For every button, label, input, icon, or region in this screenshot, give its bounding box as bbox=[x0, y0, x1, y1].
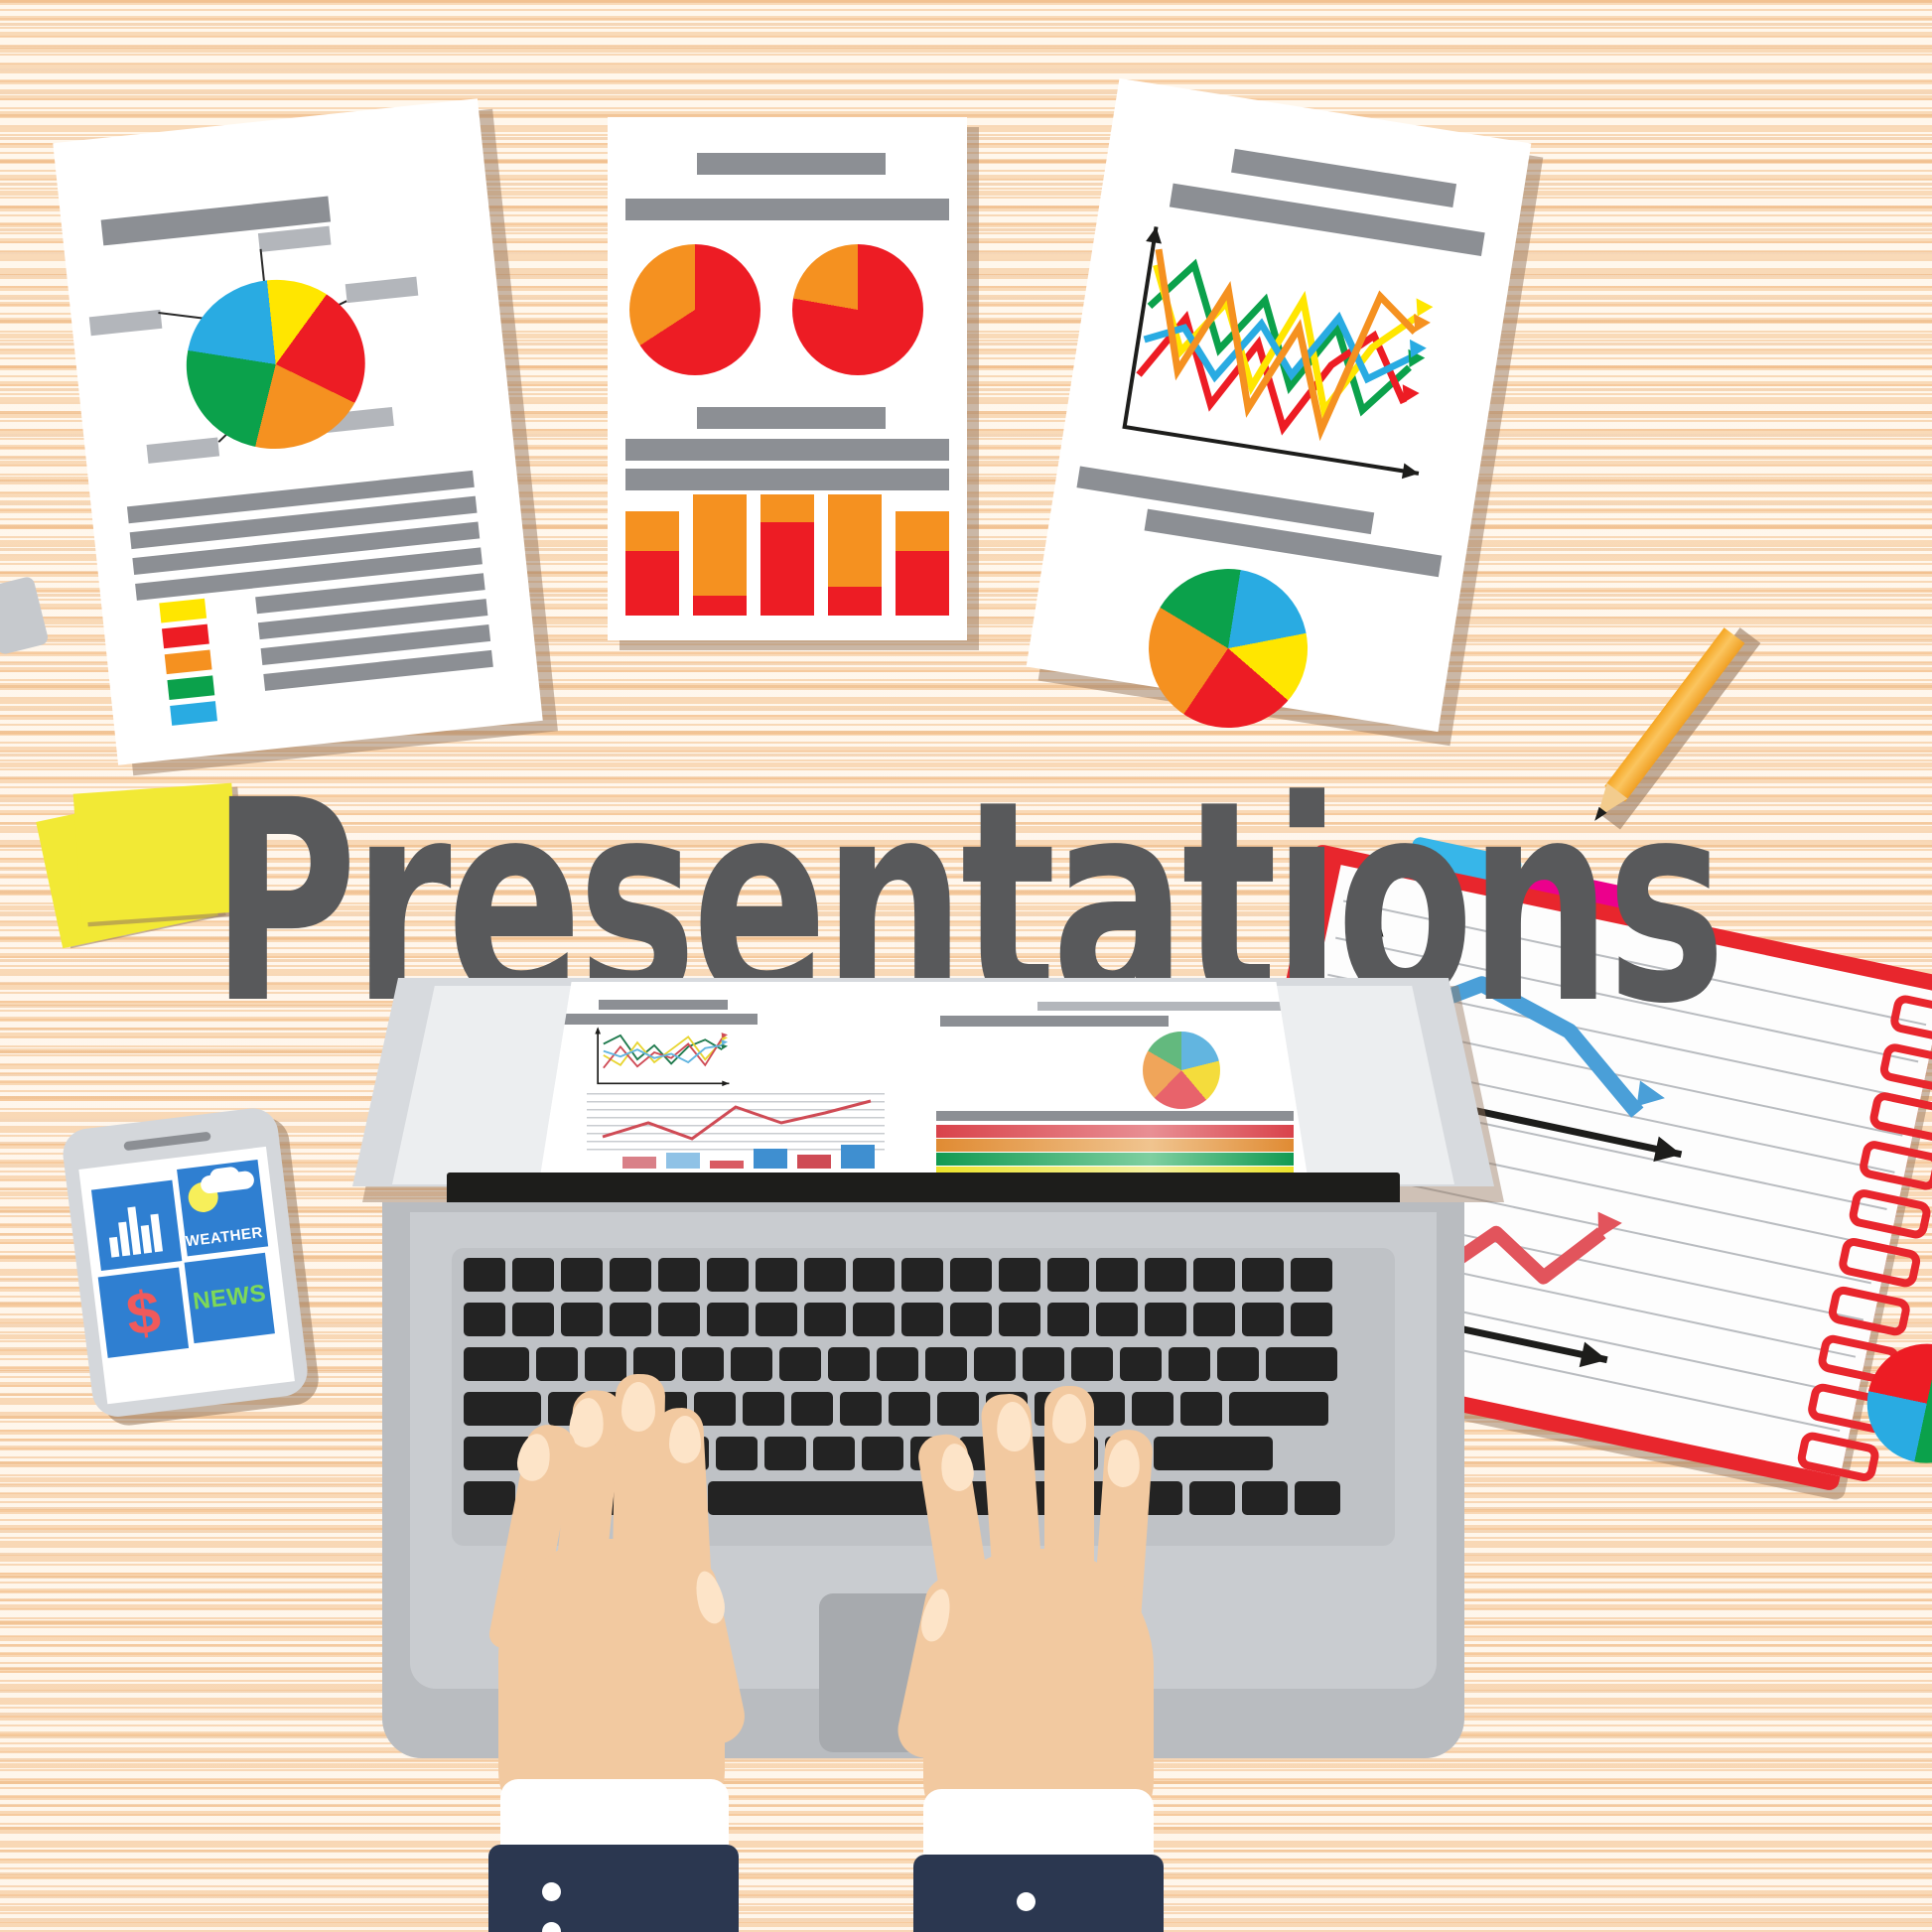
key bbox=[512, 1303, 554, 1336]
keyboard-row bbox=[464, 1347, 1337, 1381]
key bbox=[610, 1303, 651, 1336]
key bbox=[1145, 1258, 1186, 1292]
key bbox=[1096, 1258, 1138, 1292]
key bbox=[950, 1303, 992, 1336]
key bbox=[950, 1258, 992, 1292]
key bbox=[756, 1303, 797, 1336]
key bbox=[974, 1347, 1016, 1381]
key bbox=[536, 1347, 578, 1381]
doc-center-bar-red bbox=[693, 596, 747, 616]
key-arrow bbox=[1295, 1481, 1340, 1515]
key bbox=[877, 1347, 918, 1381]
left-hand bbox=[447, 1390, 804, 1932]
key bbox=[1193, 1258, 1235, 1292]
key bbox=[561, 1303, 603, 1336]
right-cuff-button bbox=[1017, 1892, 1035, 1911]
key bbox=[1242, 1303, 1284, 1336]
screen-band bbox=[936, 1139, 1294, 1152]
doc-center-subtitle-bar bbox=[625, 199, 949, 220]
key bbox=[731, 1347, 772, 1381]
doc-center-bar-red bbox=[896, 551, 949, 616]
key bbox=[512, 1258, 554, 1292]
screen-mini-bar bbox=[841, 1145, 875, 1169]
finance-tile[interactable]: $ bbox=[98, 1267, 189, 1357]
key-return bbox=[1229, 1392, 1328, 1426]
doc-center-pie-2 bbox=[792, 244, 923, 375]
key bbox=[1096, 1303, 1138, 1336]
screen-title-bar bbox=[599, 1000, 728, 1010]
bar-chart-icon bbox=[91, 1180, 182, 1271]
key bbox=[1047, 1258, 1089, 1292]
key bbox=[1047, 1303, 1089, 1336]
key bbox=[561, 1258, 603, 1292]
key bbox=[1291, 1258, 1332, 1292]
key bbox=[464, 1303, 505, 1336]
doc-center-bar-red bbox=[625, 551, 679, 616]
doc-center-pie-1 bbox=[629, 244, 760, 375]
pencil[interactable] bbox=[1678, 635, 1932, 884]
screen-band bbox=[936, 1125, 1294, 1138]
sticky-notes[interactable] bbox=[48, 784, 246, 963]
screen-mini-bar bbox=[622, 1157, 656, 1169]
left-cuff-button bbox=[542, 1882, 561, 1901]
key bbox=[779, 1347, 821, 1381]
key bbox=[1145, 1303, 1186, 1336]
screen-right-subtitle-bar bbox=[940, 1016, 1169, 1027]
key bbox=[756, 1258, 797, 1292]
key-tab bbox=[464, 1347, 529, 1381]
screen-left-panel bbox=[547, 990, 916, 1178]
key-enter bbox=[1266, 1347, 1337, 1381]
screen-right-divider bbox=[936, 1111, 1294, 1121]
screen-mini-bar bbox=[710, 1161, 744, 1169]
key bbox=[707, 1303, 749, 1336]
sticky-note-front bbox=[73, 783, 241, 923]
key bbox=[585, 1347, 626, 1381]
news-tile[interactable]: NEWS bbox=[185, 1253, 275, 1343]
keyboard-row bbox=[464, 1258, 1332, 1292]
right-suit-sleeve bbox=[913, 1855, 1164, 1932]
document-center[interactable] bbox=[608, 117, 967, 640]
key bbox=[1217, 1347, 1259, 1381]
screen-mini-bar bbox=[754, 1149, 787, 1169]
key bbox=[1242, 1258, 1284, 1292]
news-tile-label: NEWS bbox=[185, 1253, 275, 1343]
key bbox=[1120, 1347, 1162, 1381]
key bbox=[853, 1258, 895, 1292]
doc-center-text-line bbox=[625, 469, 949, 490]
key bbox=[1071, 1347, 1113, 1381]
screen-mini-bar bbox=[797, 1155, 831, 1169]
screen-right-title-bar bbox=[1037, 1002, 1286, 1011]
key bbox=[658, 1258, 700, 1292]
presentation-desk-scene: Presentations bbox=[0, 0, 1932, 1932]
doc-center-text-line bbox=[697, 407, 886, 429]
weather-tile[interactable]: WEATHER bbox=[177, 1160, 268, 1256]
left-suit-sleeve bbox=[488, 1845, 739, 1932]
key bbox=[1291, 1303, 1332, 1336]
doc-center-bar-red bbox=[760, 522, 814, 616]
screen-band bbox=[936, 1153, 1294, 1166]
key bbox=[658, 1303, 700, 1336]
doc-right-line-chart bbox=[1103, 214, 1463, 501]
key bbox=[610, 1258, 651, 1292]
smartphone[interactable]: WEATHER $ NEWS bbox=[61, 1104, 322, 1428]
key-arrow bbox=[1242, 1481, 1288, 1515]
screen-subtitle-bar bbox=[559, 1014, 758, 1025]
key bbox=[828, 1347, 870, 1381]
screen-mini-bar bbox=[666, 1153, 700, 1169]
screen-pie-chart bbox=[1143, 1032, 1220, 1109]
screen-sub-line-chart bbox=[587, 1093, 885, 1151]
finance-tile-label: $ bbox=[98, 1267, 189, 1357]
key bbox=[999, 1258, 1040, 1292]
document-left[interactable] bbox=[53, 98, 542, 764]
key bbox=[1169, 1347, 1210, 1381]
doc-center-title-bar bbox=[697, 153, 886, 175]
key bbox=[1023, 1347, 1064, 1381]
keyboard-row bbox=[464, 1303, 1332, 1336]
key bbox=[1193, 1303, 1235, 1336]
key bbox=[901, 1303, 943, 1336]
key bbox=[901, 1258, 943, 1292]
doc-center-bar-red bbox=[828, 587, 882, 616]
key bbox=[464, 1258, 505, 1292]
right-hand bbox=[824, 1400, 1201, 1932]
screen-line-chart bbox=[565, 1026, 763, 1089]
weather-tile-label: WEATHER bbox=[185, 1224, 262, 1250]
key bbox=[925, 1347, 967, 1381]
chart-tile[interactable] bbox=[91, 1180, 182, 1271]
key bbox=[707, 1258, 749, 1292]
key bbox=[804, 1303, 846, 1336]
key bbox=[682, 1347, 724, 1381]
key bbox=[853, 1303, 895, 1336]
laptop-screen[interactable] bbox=[539, 982, 1309, 1182]
screen-right-panel bbox=[928, 990, 1302, 1178]
doc-center-text-line bbox=[625, 439, 949, 461]
key bbox=[804, 1258, 846, 1292]
key bbox=[999, 1303, 1040, 1336]
